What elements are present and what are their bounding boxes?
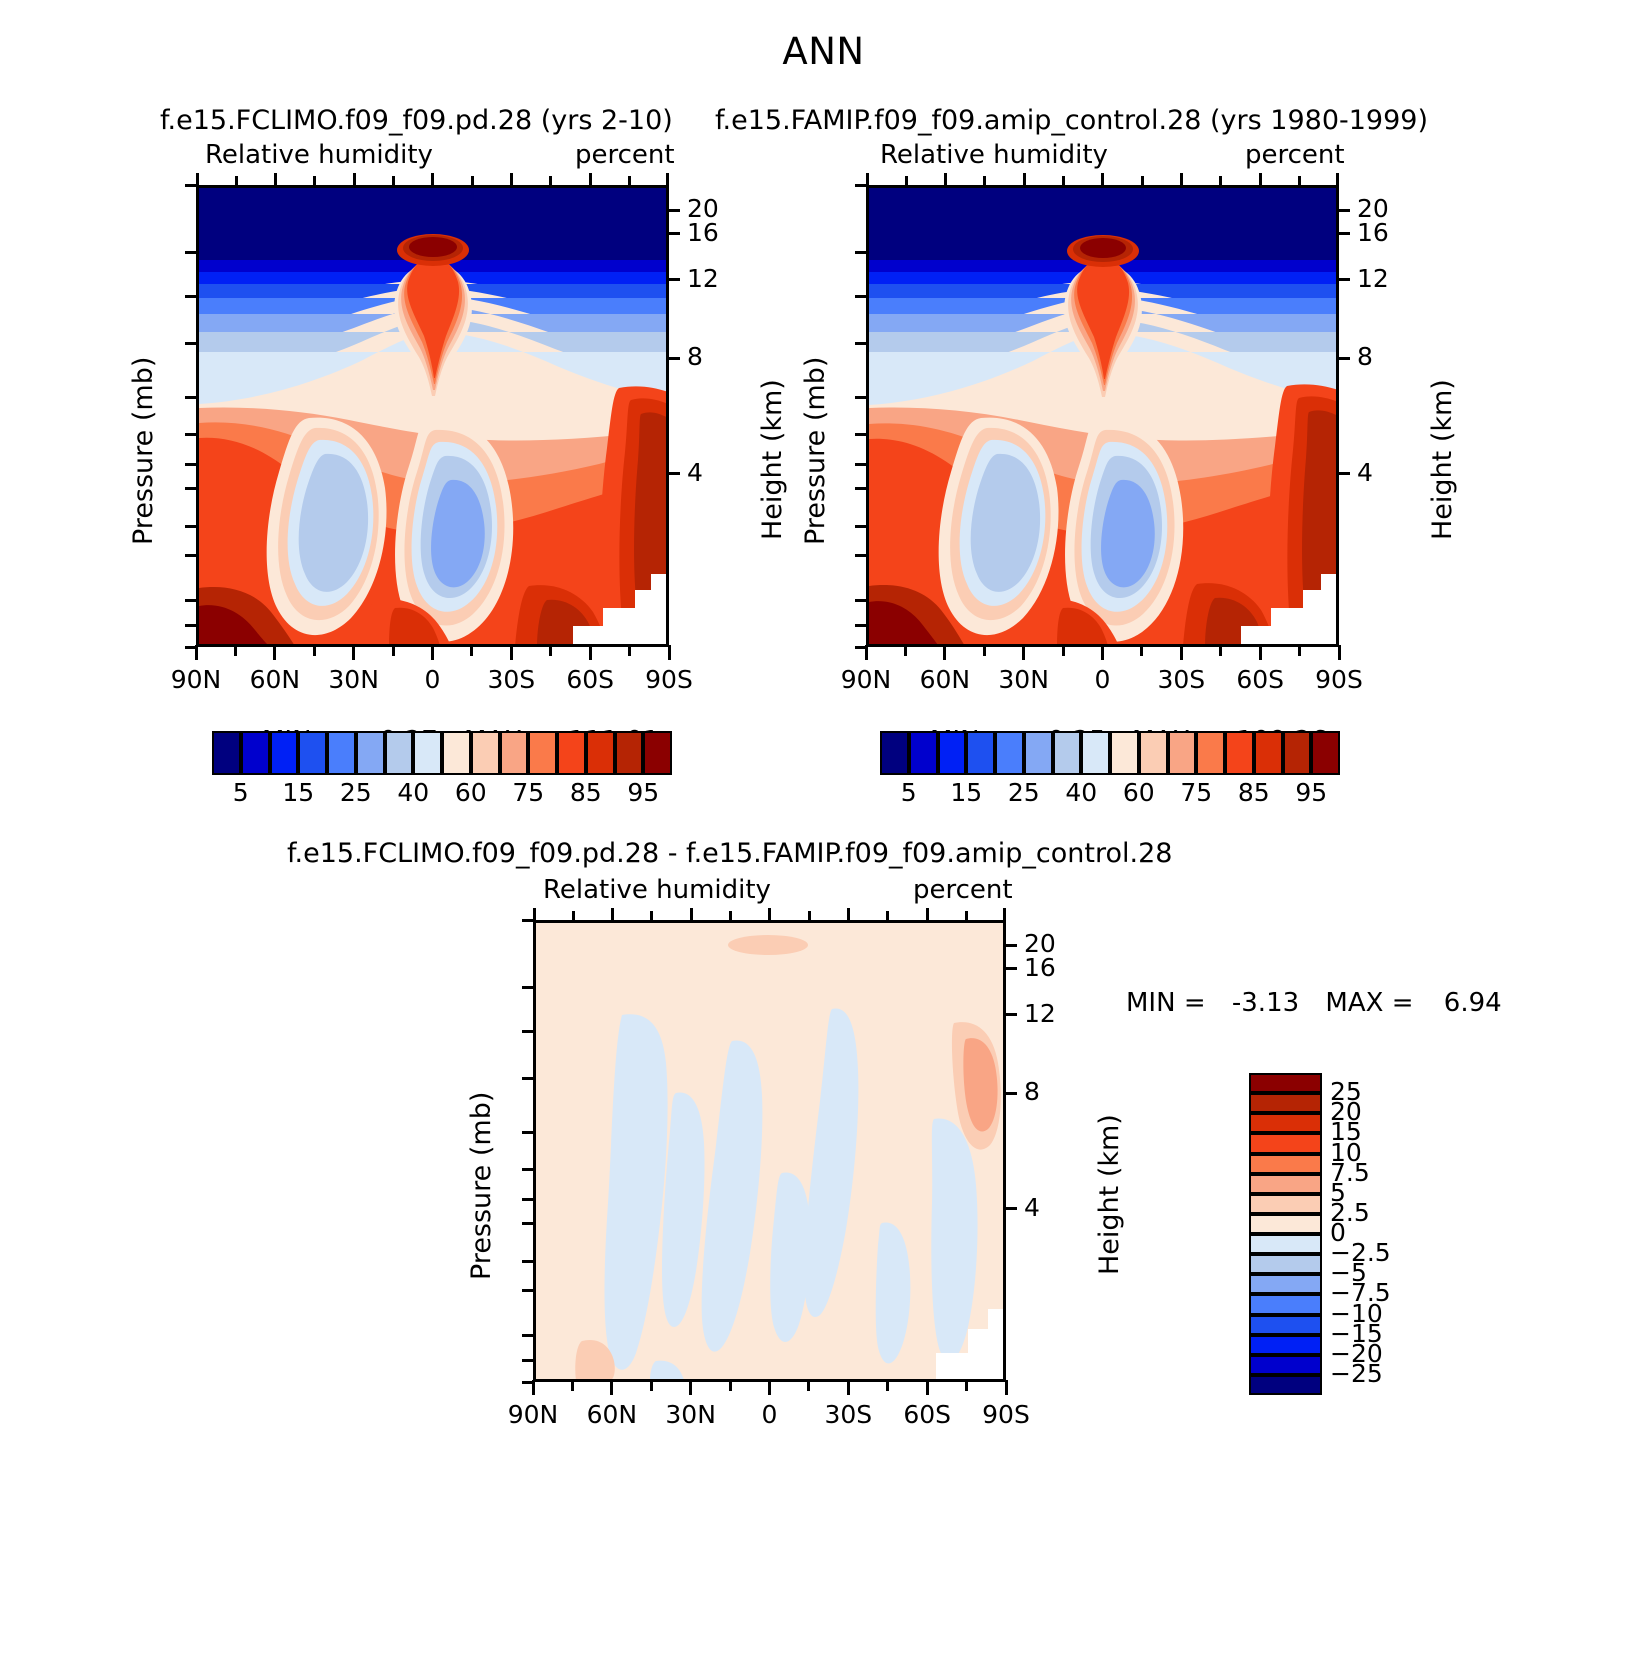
x-tick-diff-11 [965, 1380, 968, 1391]
y-tick-right-250 [855, 463, 868, 466]
x-tick-diff-6 [768, 1380, 771, 1395]
y-tick-diff-250 [522, 1198, 535, 1201]
minmax-diff: MIN = -3.13 MAX = 6.94 [1126, 988, 1502, 1018]
colorbar-right-label-85: 85 [1224, 778, 1284, 807]
y-tick-left-30 [185, 184, 198, 187]
y-tick-right-200 [855, 433, 868, 436]
y-axis-label-right: Pressure (mb) [800, 357, 831, 545]
units-label-right: percent [1245, 140, 1345, 170]
tick-top-diff-9 [847, 908, 850, 920]
y2-tick-right-20 [1337, 209, 1350, 212]
colorbar-right-swatch-2[interactable] [938, 731, 967, 775]
y-tick-diff-30 [522, 919, 535, 922]
max-value-diff: 6.94 [1444, 988, 1502, 1018]
x-tick-left-1 [234, 645, 237, 656]
x-tick-label-left-90S: 90S [624, 665, 714, 694]
colorbar-diff-swatch-11[interactable] [1249, 1294, 1322, 1314]
y-tick-right-70 [855, 295, 868, 298]
tick-top-right-11 [1259, 173, 1262, 185]
y-tick-left-300 [185, 487, 198, 490]
tick-top-right-2 [905, 176, 908, 185]
y-tick-left-850 [185, 624, 198, 627]
colorbar-diff-swatch-5[interactable] [1249, 1174, 1322, 1194]
y-tick-left-70 [185, 295, 198, 298]
min-value-diff: -3.13 [1232, 988, 1299, 1018]
colorbar-right-swatch-11[interactable] [1196, 731, 1225, 775]
colorbar-left-label-5: 5 [211, 778, 271, 807]
colorbar-left-label-75: 75 [498, 778, 558, 807]
x-tick-label-diff-90S: 90S [961, 1400, 1051, 1429]
colorbar-right-swatch-7[interactable] [1081, 731, 1110, 775]
tick-top-left-2 [235, 176, 238, 185]
x-tick-right-2 [943, 645, 946, 660]
min-label-diff: MIN = [1126, 988, 1206, 1018]
x-tick-diff-1 [571, 1380, 574, 1391]
y-tick-left-700 [185, 599, 198, 602]
contour-field-diff [536, 923, 1005, 1381]
y2-tick-label-right-4: 4 [1357, 458, 1373, 487]
colorbar-right-label-15: 15 [936, 778, 996, 807]
colorbar-diff-swatch-1[interactable] [1249, 1093, 1322, 1113]
y2-tick-label-left-4: 4 [687, 458, 703, 487]
variable-label-diff: Relative humidity [543, 875, 771, 905]
max-label-diff: MAX = [1325, 988, 1413, 1018]
x-tick-right-7 [1140, 645, 1143, 656]
colorbar-left-swatch-11[interactable] [528, 731, 557, 775]
colorbar-right-swatch-6[interactable] [1053, 731, 1082, 775]
colorbar-right-swatch-9[interactable] [1139, 731, 1168, 775]
x-tick-right-5 [1062, 645, 1065, 656]
y-tick-diff-50 [522, 986, 535, 989]
x-tick-label-right-30N: 30N [979, 665, 1069, 694]
y-axis-label-left: Pressure (mb) [128, 357, 159, 545]
tick-top-diff-2 [572, 911, 575, 920]
colorbar-left-label-85: 85 [556, 778, 616, 807]
x-tick-label-right-30S: 30S [1136, 665, 1226, 694]
contour-field-right [869, 188, 1338, 646]
x-tick-left-2 [273, 645, 276, 660]
y-tick-right-400 [855, 525, 868, 528]
tick-top-right-4 [983, 176, 986, 185]
tick-top-left-4 [313, 176, 316, 185]
y-tick-diff-850 [522, 1359, 535, 1362]
y-tick-diff-300 [522, 1222, 535, 1225]
colorbar-diff-label-14: −25 [1330, 1359, 1383, 1388]
y-tick-right-100 [855, 342, 868, 345]
x-tick-diff-8 [847, 1380, 850, 1395]
colorbar-right-swatch-0[interactable] [880, 731, 909, 775]
x-tick-right-8 [1180, 645, 1183, 660]
colorbar-left-swatch-15[interactable] [643, 731, 672, 775]
tick-top-left-5 [353, 173, 356, 185]
y-tick-diff-400 [522, 1260, 535, 1263]
contour-plot-left[interactable] [196, 185, 669, 647]
colorbar-left-swatch-7[interactable] [413, 731, 442, 775]
x-tick-left-7 [470, 645, 473, 656]
colorbar-right-swatch-1[interactable] [909, 731, 938, 775]
variable-label-right: Relative humidity [880, 140, 1108, 170]
tick-top-diff-5 [690, 908, 693, 920]
x-tick-label-right-60S: 60S [1215, 665, 1305, 694]
y-tick-diff-500 [522, 1289, 535, 1292]
tick-top-diff-11 [926, 908, 929, 920]
x-tick-label-left-60N: 60N [230, 665, 320, 694]
y2-tick-label-right-12: 12 [1357, 264, 1389, 293]
y2-tick-label-left-12: 12 [687, 264, 719, 293]
colorbar-diff-swatch-10[interactable] [1249, 1274, 1322, 1294]
x-tick-left-12 [668, 645, 671, 660]
x-tick-diff-9 [886, 1380, 889, 1391]
y-tick-left-100 [185, 342, 198, 345]
x-tick-diff-5 [729, 1380, 732, 1391]
y-tick-right-30 [855, 184, 868, 187]
colorbar-diff-swatch-0[interactable] [1249, 1073, 1322, 1093]
colorbar-left-label-95: 95 [613, 778, 673, 807]
tick-top-right-7 [1101, 173, 1104, 185]
x-tick-right-0 [865, 645, 868, 660]
colorbar-left-swatch-0[interactable] [212, 731, 241, 775]
y2-axis-label-left: Height (km) [757, 379, 788, 540]
y-tick-diff-100 [522, 1077, 535, 1080]
colorbar-diff-swatch-15[interactable] [1249, 1375, 1322, 1395]
colorbar-diff-swatch-6[interactable] [1249, 1194, 1322, 1214]
y2-axis-label-diff: Height (km) [1094, 1114, 1125, 1275]
x-tick-diff-2 [610, 1380, 613, 1395]
y-tick-right-300 [855, 487, 868, 490]
x-tick-right-9 [1219, 645, 1222, 656]
colorbar-right-swatch-5[interactable] [1024, 731, 1053, 775]
contour-field-left [199, 188, 668, 646]
x-tick-diff-7 [807, 1380, 810, 1391]
tick-top-left-12 [628, 176, 631, 185]
colorbar-diff-swatch-3[interactable] [1249, 1133, 1322, 1153]
colorbar-right-label-60: 60 [1109, 778, 1169, 807]
y-tick-right-850 [855, 624, 868, 627]
colorbar-right-swatch-3[interactable] [966, 731, 995, 775]
tick-top-left-3 [274, 173, 277, 185]
x-tick-diff-3 [650, 1380, 653, 1391]
y2-tick-label-diff-8: 8 [1024, 1077, 1040, 1106]
colorbar-diff-swatch-4[interactable] [1249, 1154, 1322, 1174]
x-tick-label-right-60N: 60N [900, 665, 990, 694]
tick-top-diff-6 [729, 911, 732, 920]
panel-title-diff: f.e15.FCLIMO.f09_f09.pd.28 - f.e15.FAMIP… [287, 838, 1172, 869]
colorbar-left[interactable] [212, 731, 672, 775]
colorbar-diff[interactable] [1249, 1073, 1322, 1395]
units-label-diff: percent [913, 875, 1013, 905]
x-tick-diff-12 [1005, 1380, 1008, 1395]
y2-tick-right-12 [1337, 278, 1350, 281]
units-label-left: percent [575, 140, 675, 170]
tick-top-diff-10 [886, 911, 889, 920]
colorbar-left-swatch-5[interactable] [356, 731, 385, 775]
y-tick-left-200 [185, 433, 198, 436]
x-tick-diff-4 [689, 1380, 692, 1395]
x-tick-diff-10 [926, 1380, 929, 1395]
colorbar-left-label-60: 60 [441, 778, 501, 807]
tick-top-left-13 [666, 173, 669, 185]
y-tick-diff-700 [522, 1334, 535, 1337]
colorbar-right-swatch-12[interactable] [1225, 731, 1254, 775]
colorbar-left-labels: 515254060758595 [212, 778, 672, 812]
y-tick-right-150 [855, 396, 868, 399]
colorbar-right-label-75: 75 [1166, 778, 1226, 807]
colorbar-left-swatch-13[interactable] [586, 731, 615, 775]
colorbar-left-label-15: 15 [268, 778, 328, 807]
y-tick-left-500 [185, 554, 198, 557]
x-tick-label-diff-30N: 30N [646, 1400, 736, 1429]
y2-tick-right-4 [1337, 472, 1350, 475]
y-tick-left-150 [185, 396, 198, 399]
y2-tick-diff-16 [1004, 967, 1017, 970]
x-tick-left-0 [195, 645, 198, 660]
tick-top-diff-4 [650, 911, 653, 920]
y2-tick-diff-12 [1004, 1013, 1017, 1016]
colorbar-left-swatch-9[interactable] [471, 731, 500, 775]
tick-top-right-3 [944, 173, 947, 185]
x-tick-left-6 [431, 645, 434, 660]
x-tick-label-left-90N: 90N [151, 665, 241, 694]
y2-axis-label-right: Height (km) [1427, 379, 1458, 540]
y2-tick-label-diff-16: 16 [1024, 953, 1056, 982]
y-tick-left-250 [185, 463, 198, 466]
x-tick-label-left-30N: 30N [309, 665, 399, 694]
colorbar-diff-swatch-2[interactable] [1249, 1113, 1322, 1133]
tick-top-left-9 [510, 173, 513, 185]
x-tick-left-8 [510, 645, 513, 660]
tick-top-right-9 [1180, 173, 1183, 185]
y2-tick-right-16 [1337, 232, 1350, 235]
x-tick-right-12 [1338, 645, 1341, 660]
colorbar-right-label-25: 25 [994, 778, 1054, 807]
colorbar-diff-swatch-7[interactable] [1249, 1214, 1322, 1234]
y2-tick-diff-8 [1004, 1092, 1017, 1095]
colorbar-left-swatch-10[interactable] [500, 731, 529, 775]
tick-top-right-5 [1023, 173, 1026, 185]
colorbar-left-swatch-1[interactable] [241, 731, 270, 775]
colorbar-right-labels: 515254060758595 [880, 778, 1340, 812]
tick-top-diff-12 [965, 911, 968, 920]
x-tick-label-left-0: 0 [388, 665, 478, 694]
colorbar-diff-swatch-14[interactable] [1249, 1355, 1322, 1375]
panel-title-right: f.e15.FAMIP.f09_f09.amip_control.28 (yrs… [715, 105, 1428, 136]
x-tick-left-4 [352, 645, 355, 660]
y-tick-left-400 [185, 525, 198, 528]
x-tick-diff-0 [532, 1380, 535, 1395]
y2-tick-right-8 [1337, 357, 1350, 360]
colorbar-right-swatch-8[interactable] [1110, 731, 1139, 775]
x-tick-label-diff-60S: 60S [882, 1400, 972, 1429]
y2-tick-label-diff-12: 12 [1024, 999, 1056, 1028]
x-tick-label-diff-0: 0 [725, 1400, 815, 1429]
colorbar-left-swatch-6[interactable] [385, 731, 414, 775]
y-tick-right-700 [855, 599, 868, 602]
tick-top-left-11 [589, 173, 592, 185]
tick-top-right-13 [1336, 173, 1339, 185]
y-axis-label-diff: Pressure (mb) [466, 1092, 497, 1280]
tick-top-right-6 [1062, 176, 1065, 185]
colorbar-left-swatch-4[interactable] [327, 731, 356, 775]
colorbar-left-label-40: 40 [383, 778, 443, 807]
tick-top-right-10 [1219, 176, 1222, 185]
y2-tick-left-4 [667, 472, 680, 475]
y-tick-diff-150 [522, 1131, 535, 1134]
colorbar-diff-swatch-12[interactable] [1249, 1315, 1322, 1335]
y2-tick-diff-20 [1004, 944, 1017, 947]
colorbar-diff-labels: 252015107.552.50−2.5−5−7.5−10−15−20−25 [1330, 1073, 1440, 1395]
tick-top-right-8 [1141, 176, 1144, 185]
colorbar-left-swatch-14[interactable] [615, 731, 644, 775]
x-tick-right-11 [1298, 645, 1301, 656]
y2-tick-label-right-8: 8 [1357, 342, 1373, 371]
colorbar-diff-swatch-8[interactable] [1249, 1234, 1322, 1254]
variable-label-left: Relative humidity [205, 140, 433, 170]
y2-tick-left-16 [667, 232, 680, 235]
colorbar-right-swatch-10[interactable] [1168, 731, 1197, 775]
x-tick-right-10 [1259, 645, 1262, 660]
x-tick-label-diff-90N: 90N [488, 1400, 578, 1429]
y2-tick-left-8 [667, 357, 680, 360]
y2-tick-label-right-16: 16 [1357, 218, 1389, 247]
colorbar-diff-swatch-9[interactable] [1249, 1254, 1322, 1274]
tick-top-left-7 [431, 173, 434, 185]
x-tick-left-3 [313, 645, 316, 656]
x-tick-label-diff-30S: 30S [803, 1400, 893, 1429]
colorbar-left-label-25: 25 [326, 778, 386, 807]
x-tick-right-1 [904, 645, 907, 656]
tick-top-left-6 [392, 176, 395, 185]
y-tick-right-500 [855, 554, 868, 557]
x-tick-label-right-90N: 90N [821, 665, 911, 694]
y2-tick-left-12 [667, 278, 680, 281]
colorbar-right-swatch-15[interactable] [1311, 731, 1340, 775]
colorbar-left-swatch-8[interactable] [442, 731, 471, 775]
x-tick-right-4 [1022, 645, 1025, 660]
y-tick-left-50 [185, 251, 198, 254]
colorbar-right-swatch-14[interactable] [1283, 731, 1312, 775]
x-tick-label-right-0: 0 [1058, 665, 1148, 694]
colorbar-right-label-5: 5 [879, 778, 939, 807]
tick-top-diff-8 [808, 911, 811, 920]
y-tick-diff-70 [522, 1030, 535, 1033]
colorbar-right-swatch-4[interactable] [995, 731, 1024, 775]
page-title: ANN [0, 30, 1647, 73]
x-tick-right-3 [983, 645, 986, 656]
colorbar-left-swatch-2[interactable] [270, 731, 299, 775]
colorbar-left-swatch-12[interactable] [557, 731, 586, 775]
tick-top-diff-3 [611, 908, 614, 920]
tick-top-left-8 [471, 176, 474, 185]
colorbar-right-swatch-13[interactable] [1254, 731, 1283, 775]
x-tick-left-11 [628, 645, 631, 656]
colorbar-right-label-40: 40 [1051, 778, 1111, 807]
x-tick-label-left-60S: 60S [545, 665, 635, 694]
tick-top-left-10 [549, 176, 552, 185]
tick-top-diff-13 [1003, 908, 1006, 920]
colorbar-right[interactable] [880, 731, 1340, 775]
y-tick-right-50 [855, 251, 868, 254]
contour-plot-diff[interactable] [533, 920, 1006, 1382]
y2-tick-diff-4 [1004, 1207, 1017, 1210]
contour-plot-right[interactable] [866, 185, 1339, 647]
tick-top-diff-7 [768, 908, 771, 920]
colorbar-left-swatch-3[interactable] [298, 731, 327, 775]
x-tick-left-9 [549, 645, 552, 656]
y2-tick-label-left-8: 8 [687, 342, 703, 371]
x-tick-right-6 [1101, 645, 1104, 660]
x-tick-label-right-90S: 90S [1294, 665, 1384, 694]
y2-tick-left-20 [667, 209, 680, 212]
y2-tick-label-diff-4: 4 [1024, 1193, 1040, 1222]
colorbar-right-label-95: 95 [1281, 778, 1341, 807]
y2-tick-label-left-16: 16 [687, 218, 719, 247]
y-tick-diff-200 [522, 1168, 535, 1171]
colorbar-diff-swatch-13[interactable] [1249, 1335, 1322, 1355]
x-tick-label-diff-60N: 60N [567, 1400, 657, 1429]
panel-title-left: f.e15.FCLIMO.f09_f09.pd.28 (yrs 2-10) [160, 105, 673, 136]
x-tick-label-left-30S: 30S [466, 665, 556, 694]
x-tick-left-5 [392, 645, 395, 656]
tick-top-right-12 [1298, 176, 1301, 185]
x-tick-left-10 [589, 645, 592, 660]
